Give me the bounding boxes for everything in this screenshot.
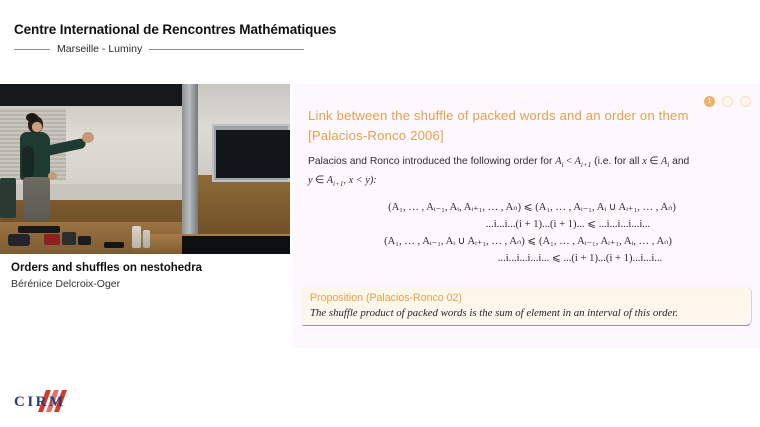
phone-on-table [104, 242, 124, 248]
blackboard-upper [0, 84, 182, 106]
water-bottle-1 [132, 226, 141, 248]
proposition-title: Proposition (Palacios-Ronco 02) [310, 292, 743, 304]
chair [0, 178, 16, 218]
slide-body-text: Palacios and Ronco introduced the follow… [308, 154, 748, 192]
slide-title-line-1: Link between the shuffle of packed words… [308, 106, 728, 126]
talk-title: Orders and shuffles on nestohedra [11, 262, 202, 274]
body-text-b: (i.e. for all [591, 156, 642, 167]
slide-panel: 1 2 3 Link between the shuffle of packed… [293, 84, 760, 348]
speaker-legs [23, 177, 50, 221]
divider-right [149, 49, 304, 50]
math-in-1: ∈ [647, 156, 661, 167]
proposition-text: The shuffle product of packed words is t… [310, 307, 743, 319]
body-text-c: and [669, 156, 689, 167]
proposition-box: Proposition (Palacios-Ronco 02) The shuf… [302, 287, 752, 326]
slide-title-line-2: [Palacios-Ronco 2006] [308, 126, 728, 146]
site-subtitle-row: Marseille - Luminy [14, 42, 304, 56]
blackboard-right [216, 130, 290, 178]
table-object-2 [44, 234, 60, 245]
divider-left [14, 49, 50, 50]
body-text-a: Palacios and Ronco introduced the follow… [308, 156, 555, 167]
talk-speaker: Bérénice Delcroix-Oger [11, 278, 120, 290]
math-lt: < [564, 156, 575, 167]
equation-line-2: ...i...i...(i + 1)...(i + 1)... ⩽ ...i..… [308, 216, 748, 233]
speaker-hair [26, 113, 38, 122]
slide-dot-3[interactable]: 3 [740, 96, 751, 107]
lecture-video[interactable] [0, 84, 290, 254]
logo-text: CIRM [14, 394, 66, 411]
keyboard [18, 226, 60, 233]
foreground-shadow [182, 236, 290, 254]
speaker-hand [82, 132, 94, 143]
site-header: Centre International de Rencontres Mathé… [0, 0, 760, 78]
water-bottle-2 [143, 230, 150, 248]
equation-line-1: (A₁, … , Aᵢ₋₁, Aᵢ, Aᵢ₊₁, … , Aₙ) ⩽ (A₁, … [308, 199, 748, 216]
table-object-3 [62, 232, 76, 245]
cirm-logo: CIRM [14, 390, 134, 416]
table-object-1 [8, 234, 30, 246]
math-in-2: ∈ [313, 175, 327, 186]
room-pillar [182, 84, 198, 236]
speaker-face [32, 122, 42, 132]
equation-block: (A₁, … , Aᵢ₋₁, Aᵢ, Aᵢ₊₁, … , Aₙ) ⩽ (A₁, … [308, 199, 748, 267]
math-a-i3-sub: i+1 [333, 180, 343, 188]
site-subtitle: Marseille - Luminy [57, 43, 142, 55]
math-a-i1-sub: i+1 [581, 161, 591, 169]
video-frame [0, 84, 290, 254]
body-text-d: , x < y): [343, 175, 376, 186]
slide-title: Link between the shuffle of packed words… [308, 106, 728, 146]
equation-line-3: (A₁, … , Aᵢ₋₁, Aᵢ ∪ Aᵢ₊₁, … , Aₙ) ⩽ (A₁,… [308, 233, 748, 250]
table-object-4 [78, 236, 91, 245]
site-title: Centre International de Rencontres Mathé… [14, 22, 336, 37]
equation-line-4: ...i...i...i...i... ⩽ ...(i + 1)...(i + … [308, 250, 748, 267]
speaker-arm-lower [22, 146, 34, 178]
